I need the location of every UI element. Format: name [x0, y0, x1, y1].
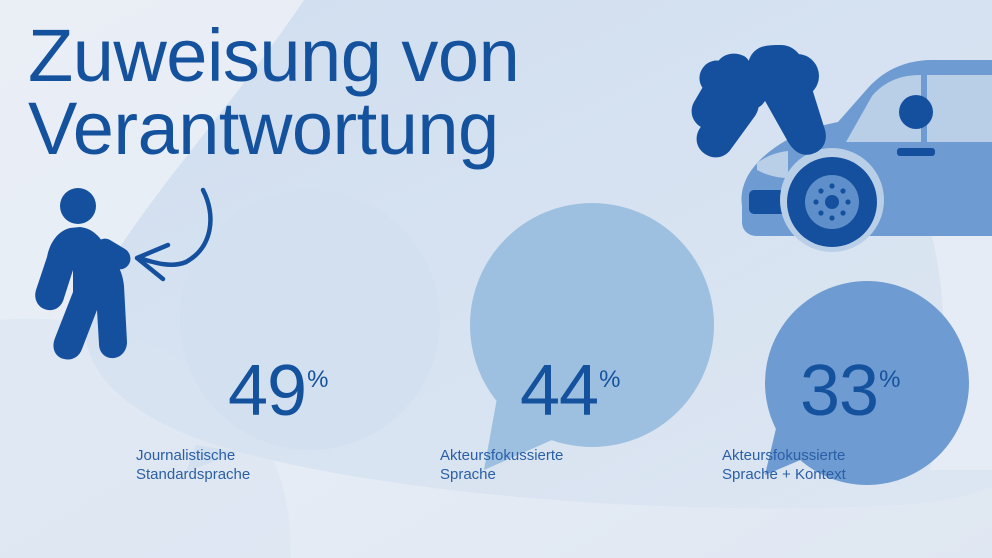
stat-unit-2: % [599, 366, 620, 393]
stat-block-3: 33% Akteursfokussierte Sprache + Kontext [800, 355, 899, 485]
page-title: Zuweisung von Verantwortung [28, 20, 519, 165]
stat-unit-3: % [879, 366, 900, 393]
stat-label-3: Akteursfokussierte Sprache + Kontext [722, 447, 899, 485]
stat-label-1: Journalistische Standardsprache [136, 447, 327, 485]
infographic-canvas: Zuweisung von Verantwortung 49% Journali… [0, 0, 992, 558]
stat-value-1: 49 [228, 355, 306, 427]
stat-label-2: Akteursfokussierte Sprache [440, 447, 619, 485]
stat-block-1: 49% Journalistische Standardsprache [228, 355, 327, 485]
stat-value-2: 44 [520, 355, 598, 427]
stat-value-3: 33 [800, 355, 878, 427]
stat-unit-1: % [307, 366, 328, 393]
stat-block-2: 44% Akteursfokussierte Sprache [520, 355, 619, 485]
